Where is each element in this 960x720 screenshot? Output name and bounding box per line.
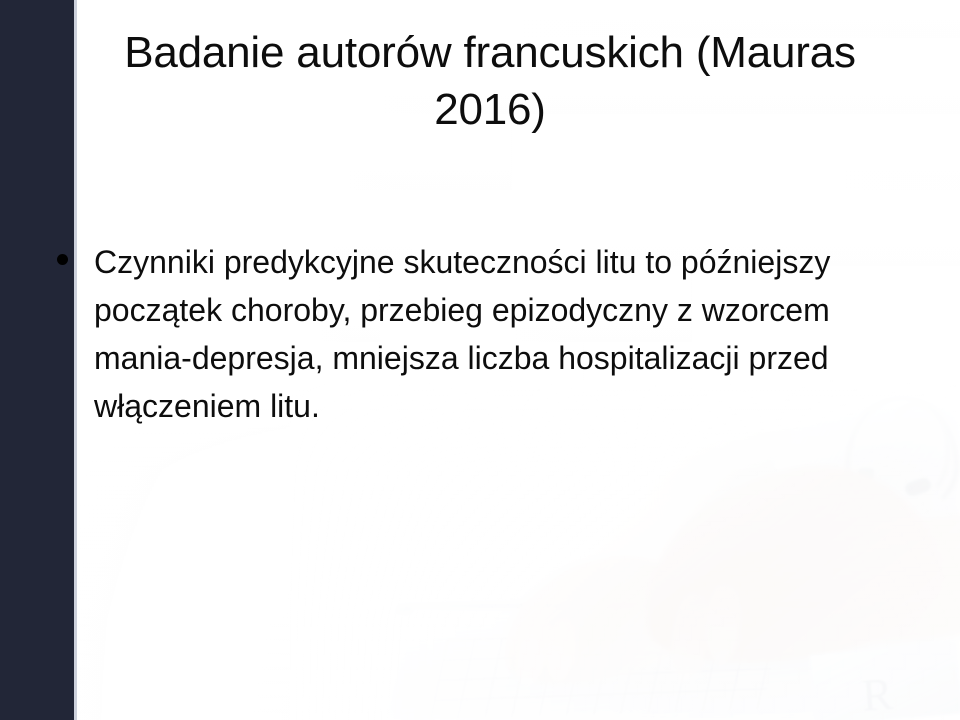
photo-laptop-top-edge (395, 604, 837, 614)
photo-laptop-left-edge (356, 623, 426, 720)
stethoscope-earpiece (858, 468, 874, 481)
photo-prescription-paper (809, 642, 960, 720)
stethoscope-chestpiece (903, 476, 932, 497)
photo-right-hand (627, 448, 953, 683)
photo-left-finger-2 (543, 618, 581, 682)
prescription-rx-mark: R (860, 667, 894, 720)
laptop-icon (387, 608, 843, 720)
bullet-item: Czynniki predykcyjne skuteczności litu t… (52, 238, 932, 430)
slide-body: Czynniki predykcyjne skuteczności litu t… (52, 238, 932, 430)
photo-right-finger-2 (703, 584, 742, 664)
photo-bottle (742, 500, 798, 586)
photo-trackpad (556, 568, 616, 598)
photo-keyboard-keys (430, 628, 780, 719)
photo-left-hand (490, 542, 709, 698)
photo-left-finger-1 (512, 616, 555, 687)
photo-doctor-coat (770, 400, 960, 660)
slide-title: Badanie autorów francuskich (Mauras 2016… (76, 24, 904, 138)
photo-right-forearm (824, 512, 960, 648)
slide-canvas: R Badanie autorów francuskich (Mauras 20… (0, 0, 960, 720)
bullet-marker-icon (57, 254, 68, 265)
bullet-text: Czynniki predykcyjne skuteczności litu t… (94, 238, 912, 430)
photo-right-finger-1 (666, 590, 714, 686)
